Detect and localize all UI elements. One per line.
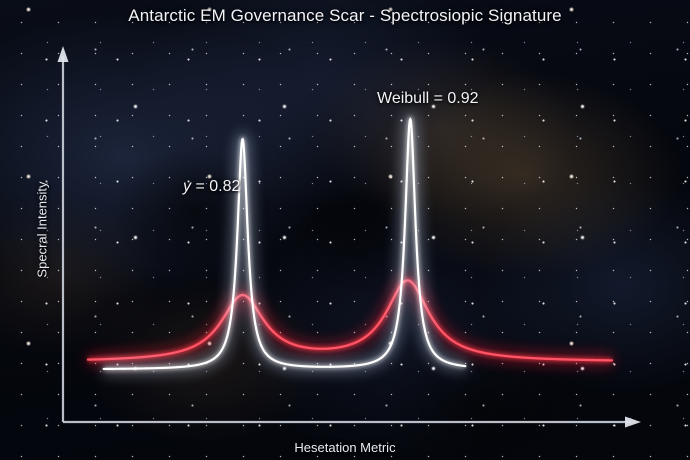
red-curve-halo xyxy=(88,280,612,360)
series-sharp-white-peaks xyxy=(104,119,466,369)
plot-canvas xyxy=(0,0,690,460)
white-curve-soft xyxy=(104,119,466,369)
x-axis-label: Hesetation Metric xyxy=(0,440,690,455)
series-broad-red-peaks xyxy=(88,280,612,360)
annotation-gamma: y = 0.82 xyxy=(183,178,240,196)
y-axis-arrowhead xyxy=(58,46,69,62)
x-axis-arrowhead xyxy=(625,417,641,428)
annotation-gamma-value: = 0.82 xyxy=(191,178,240,195)
annotation-weibull: Weibull = 0.92 xyxy=(377,90,479,108)
spectroscopy-chart-figure: Antarctic EM Governance Scar - Spectrosi… xyxy=(0,0,690,460)
annotation-gamma-symbol: y xyxy=(183,178,191,195)
y-axis-label: Specral Intensity xyxy=(35,150,50,310)
page-title: Antarctic EM Governance Scar - Spectrosi… xyxy=(0,6,690,26)
